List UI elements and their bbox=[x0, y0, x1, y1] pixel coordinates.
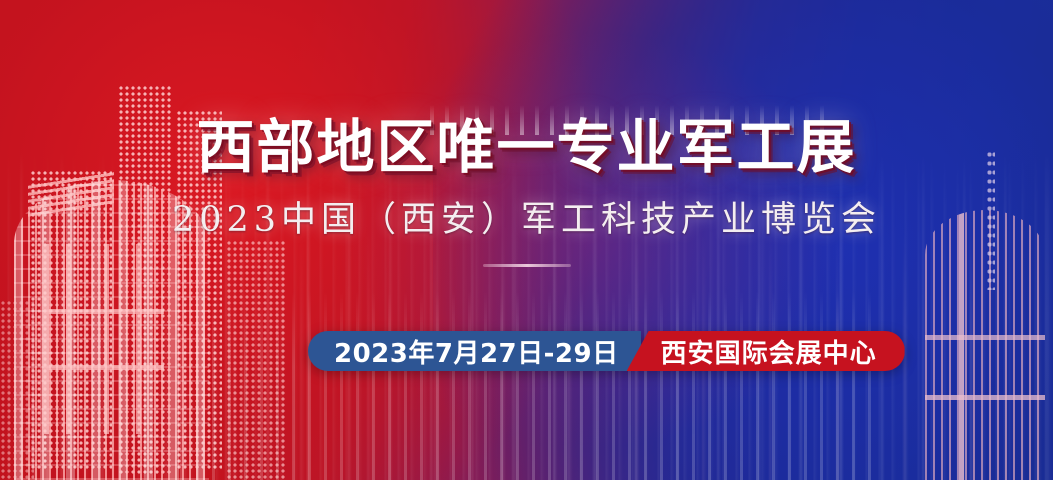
banner-content: 西部地区唯一专业军工展 2023中国（西安）军工科技产业博览会 2023年7月2… bbox=[0, 0, 1053, 480]
banner-headline: 西部地区唯一专业军工展 bbox=[0, 118, 1053, 176]
info-bar: 2023年7月27日-29日 西安国际会展中心 bbox=[308, 331, 905, 371]
event-venue: 西安国际会展中心 bbox=[627, 331, 905, 371]
headline-divider bbox=[483, 264, 571, 267]
event-banner: 西部地区唯一专业军工展 2023中国（西安）军工科技产业博览会 2023年7月2… bbox=[0, 0, 1053, 480]
banner-subheadline: 2023中国（西安）军工科技产业博览会 bbox=[0, 203, 1053, 238]
event-date: 2023年7月27日-29日 bbox=[308, 331, 641, 371]
